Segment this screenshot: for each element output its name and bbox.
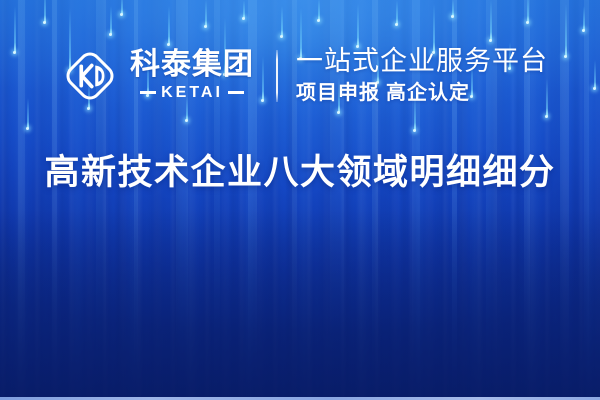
banner-header: 科泰集团 KETAI 一站式企业服务平台 项目申报 高企认定 [0, 36, 600, 116]
ketai-diamond-kd-logo-icon [62, 48, 118, 104]
tagline-block: 一站式企业服务平台 项目申报 高企认定 [296, 46, 548, 107]
brand-name-en: KETAI [161, 84, 223, 102]
tagline-primary: 一站式企业服务平台 [296, 46, 548, 78]
brand-name-en-wrap: KETAI [130, 84, 254, 102]
page-title: 高新技术企业八大领域明细细分 [0, 152, 600, 194]
brand-block: 科泰集团 KETAI [62, 48, 254, 104]
promo-banner: 科泰集团 KETAI 一站式企业服务平台 项目申报 高企认定 高新技术企业八大领… [0, 0, 600, 400]
brand-text-block: 科泰集团 KETAI [130, 50, 254, 101]
brand-name-cn: 科泰集团 [130, 50, 254, 81]
brand-rule-left-icon [140, 91, 156, 94]
background-bottom-fade [0, 210, 600, 400]
brand-rule-right-icon [228, 91, 244, 94]
header-divider [276, 50, 278, 102]
tagline-secondary: 项目申报 高企认定 [296, 81, 548, 106]
